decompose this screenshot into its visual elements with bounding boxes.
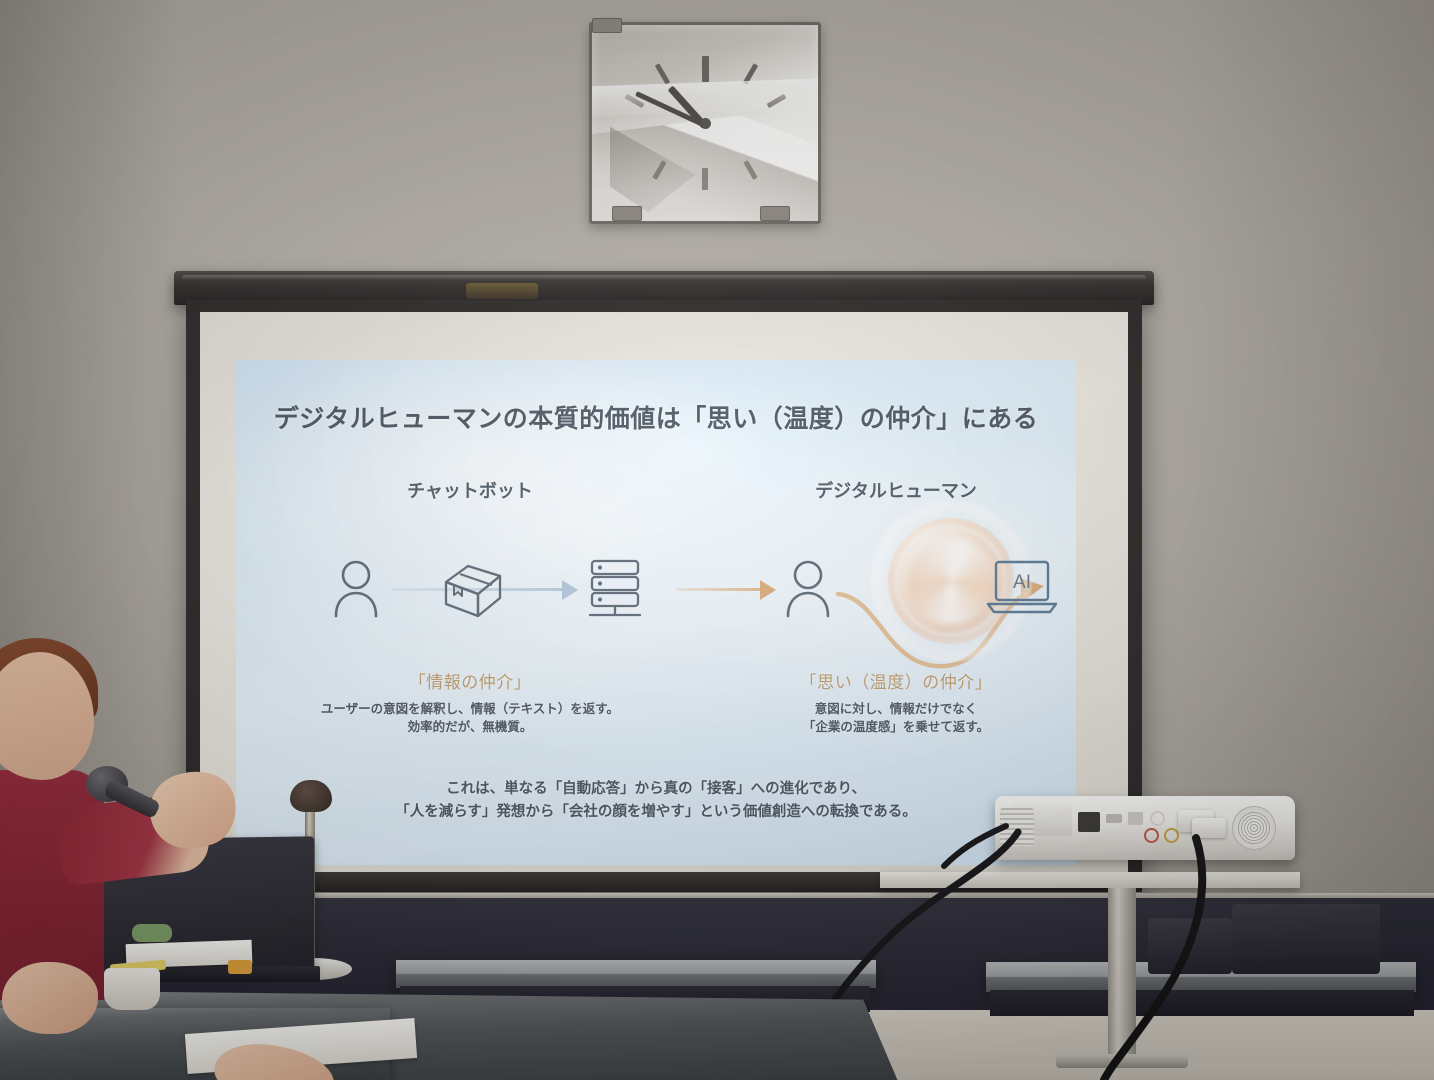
screenshot-root: デジタルヒューマンの本質的価値は「思い（温度）の仲介」にある チャットボット デ… xyxy=(0,0,1434,1080)
photo-vignette xyxy=(0,0,1434,1080)
